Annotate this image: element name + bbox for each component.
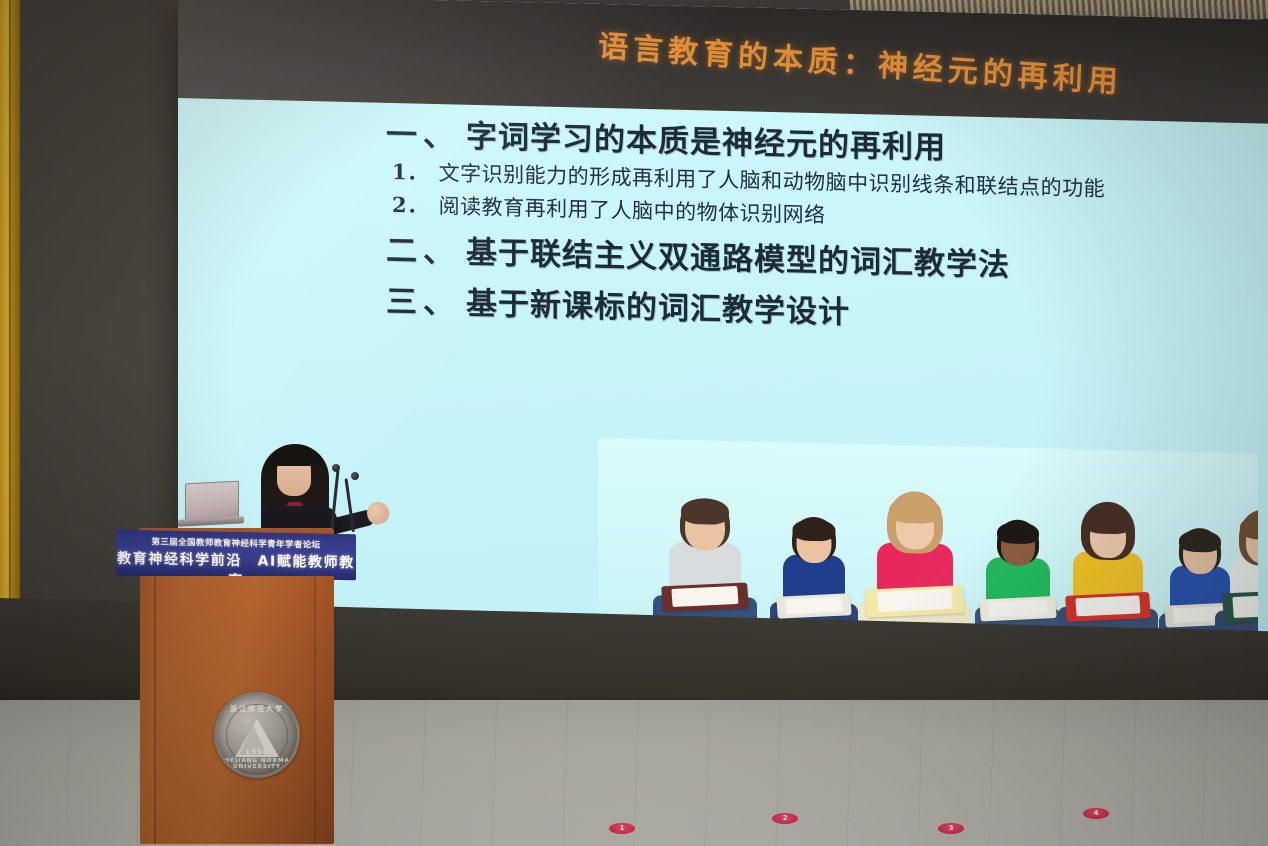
floor-marker: 1 bbox=[609, 823, 635, 834]
list-item-index: 2． bbox=[392, 192, 429, 218]
conference-hall-photo: 语言教育的本质：神经元的再利用 一、字词学习的本质是神经元的再利用 1．文字识别… bbox=[0, 0, 1268, 846]
floor-marker: 3 bbox=[938, 823, 964, 834]
section-number-3: 三、 bbox=[386, 284, 460, 322]
podium-body: 浙江师范大学 1956 ZHEJIANG NORMAL UNIVERSITY bbox=[140, 576, 334, 844]
section-heading-text-3: 基于新课标的词汇教学设计 bbox=[466, 286, 850, 331]
microphone-head-icon bbox=[351, 472, 359, 480]
microphone-head-icon bbox=[332, 464, 340, 472]
list-item-index: 1． bbox=[392, 159, 429, 185]
open-book bbox=[1065, 592, 1151, 622]
section-number-2: 二、 bbox=[386, 233, 460, 271]
floor-marker: 4 bbox=[1083, 808, 1109, 819]
laptop-screen bbox=[185, 481, 239, 522]
open-book bbox=[661, 582, 749, 612]
speaker-hair-fringe bbox=[273, 446, 315, 466]
open-book bbox=[776, 593, 851, 618]
wall-gold-trim bbox=[0, 0, 20, 640]
emblem-english-name: ZHEJIANG NORMAL UNIVERSITY bbox=[217, 758, 297, 770]
emblem-year: 1956 bbox=[217, 748, 297, 756]
emblem-chinese-name: 浙江师范大学 bbox=[217, 704, 297, 714]
podium: 第三届全国教师教育神经科学青年学者论坛 教育神经科学前沿 AI赋能教师教育 浙江… bbox=[116, 528, 356, 846]
section-heading-text-2: 基于联结主义双通路模型的词汇教学法 bbox=[466, 235, 1010, 284]
podium-banner: 第三届全国教师教育神经科学青年学者论坛 教育神经科学前沿 AI赋能教师教育 bbox=[116, 530, 356, 581]
child-hair-top bbox=[681, 498, 729, 525]
open-book bbox=[865, 585, 965, 618]
child-hair-top bbox=[997, 521, 1039, 544]
floor-marker: 2 bbox=[772, 813, 798, 824]
child-hair-top bbox=[1083, 509, 1133, 534]
child-hair-top bbox=[889, 497, 941, 524]
child-hair-top bbox=[793, 518, 836, 541]
open-book bbox=[1222, 590, 1258, 624]
section-number-1: 一、 bbox=[386, 117, 460, 155]
university-emblem: 浙江师范大学 1956 ZHEJIANG NORMAL UNIVERSITY bbox=[214, 692, 300, 778]
list-item-text: 阅读教育再利用了人脑中的物体识别网络 bbox=[439, 194, 826, 227]
open-book bbox=[979, 596, 1056, 621]
